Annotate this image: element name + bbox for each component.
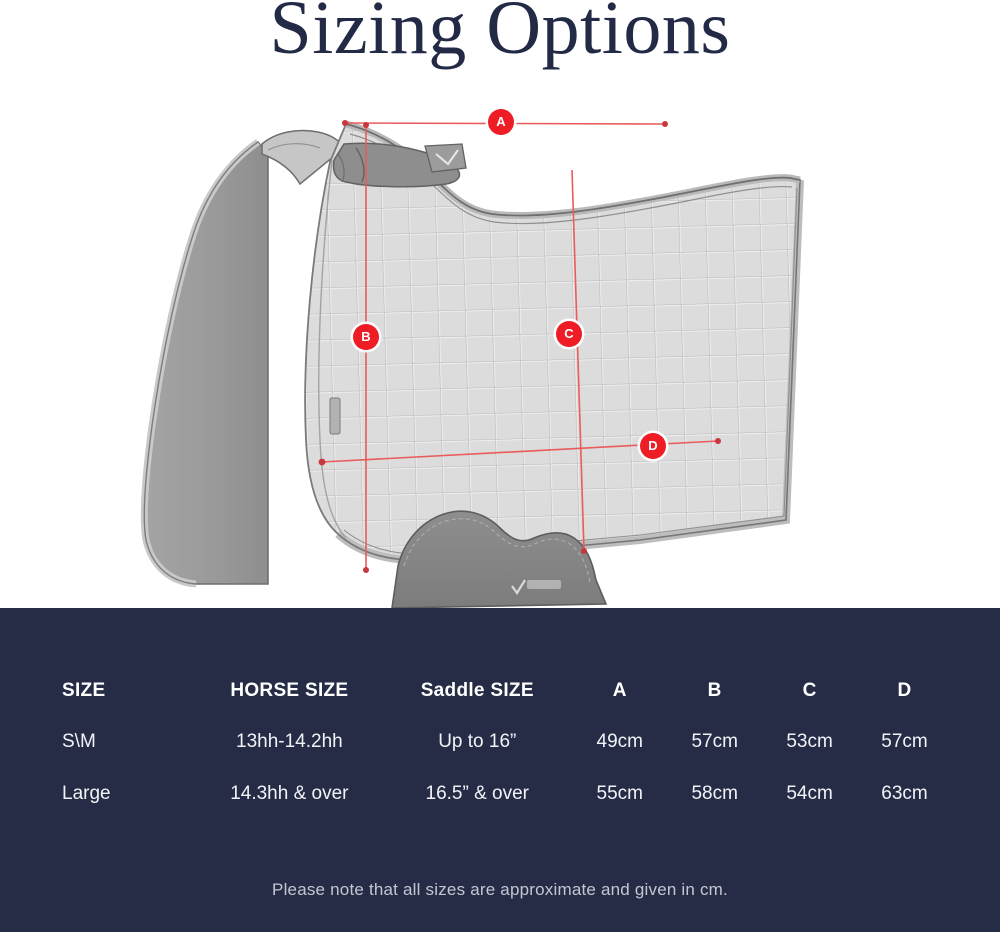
- cell-c-large: 54cm: [762, 768, 857, 820]
- column-header-saddle-size: Saddle SIZE: [382, 666, 572, 716]
- pad-main-body: [305, 124, 800, 560]
- cell-size-large: Large: [62, 768, 197, 820]
- page-title-container: Sizing Options: [0, 0, 1000, 82]
- pad-side-label-tab: [330, 398, 340, 434]
- column-header-c: C: [762, 666, 857, 716]
- table-header-row: SIZE HORSE SIZE Saddle SIZE A B C D: [62, 666, 952, 716]
- page-title: Sizing Options: [0, 0, 1000, 74]
- cell-a-large: 55cm: [572, 768, 667, 820]
- cell-size-sm: S\M: [62, 716, 197, 768]
- cell-b-sm: 57cm: [667, 716, 762, 768]
- column-header-d: D: [857, 666, 952, 716]
- table-row: Large 14.3hh & over 16.5” & over 55cm 58…: [62, 768, 952, 820]
- sizing-options-page: Sizing Options: [0, 0, 1000, 932]
- cell-d-large: 63cm: [857, 768, 952, 820]
- cell-c-sm: 53cm: [762, 716, 857, 768]
- cell-saddle-size-sm: Up to 16”: [382, 716, 572, 768]
- column-header-a: A: [572, 666, 667, 716]
- sizing-table: SIZE HORSE SIZE Saddle SIZE A B C D S\M …: [62, 666, 952, 820]
- column-header-size: SIZE: [62, 666, 197, 716]
- sizing-panel: SIZE HORSE SIZE Saddle SIZE A B C D S\M …: [0, 608, 1000, 932]
- measurement-marker-b: B: [353, 324, 379, 350]
- column-header-horse-size: HORSE SIZE: [197, 666, 383, 716]
- saddle-pad-diagram: A B C D: [0, 88, 1000, 608]
- cell-horse-size-sm: 13hh-14.2hh: [197, 716, 383, 768]
- cell-horse-size-large: 14.3hh & over: [197, 768, 383, 820]
- sizing-footnote: Please note that all sizes are approxima…: [0, 880, 1000, 900]
- cell-d-sm: 57cm: [857, 716, 952, 768]
- table-row: S\M 13hh-14.2hh Up to 16” 49cm 57cm 53cm…: [62, 716, 952, 768]
- column-header-b: B: [667, 666, 762, 716]
- cell-a-sm: 49cm: [572, 716, 667, 768]
- measurement-marker-d: D: [640, 433, 666, 459]
- pad-far-side-panel: [144, 142, 268, 584]
- saddle-pad-illustration: [0, 88, 1000, 608]
- measurement-marker-a: A: [488, 109, 514, 135]
- cell-b-large: 58cm: [667, 768, 762, 820]
- cell-saddle-size-large: 16.5” & over: [382, 768, 572, 820]
- measurement-marker-c: C: [556, 321, 582, 347]
- pad-logo-tab: [425, 144, 466, 172]
